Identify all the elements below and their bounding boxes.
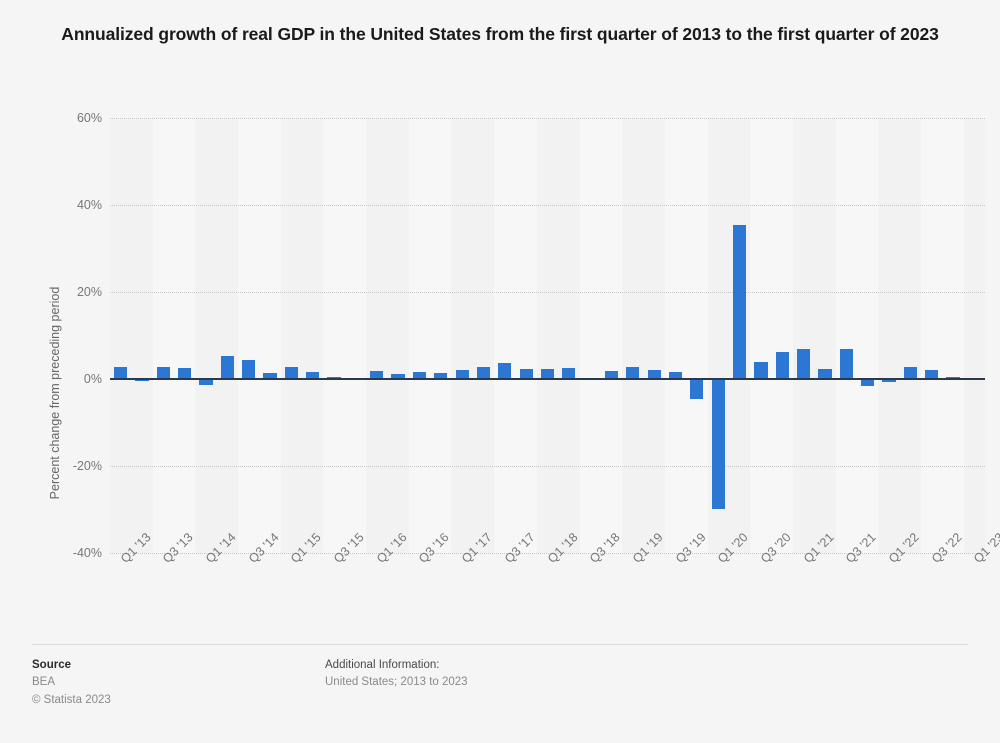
footer-divider [32,644,968,645]
x-axis: Q1 '13Q3 '13Q1 '14Q3 '14Q1 '15Q3 '15Q1 '… [110,556,985,616]
plot-band [366,118,409,553]
plot-band [195,118,238,553]
bar[interactable] [840,349,853,379]
y-axis-tick-label: 60% [38,111,102,125]
plot-band [622,118,665,553]
plot-band [281,118,324,553]
bar[interactable] [690,379,703,399]
source-block: Source BEA © Statista 2023 [32,657,111,709]
page-title: Annualized growth of real GDP in the Uni… [60,22,940,47]
source-name: BEA [32,674,111,691]
y-axis-tick-label: 40% [38,198,102,212]
plot-area [110,118,985,553]
plot-band [964,118,985,553]
bar[interactable] [861,379,874,386]
plot-band [451,118,494,553]
y-axis-tick-label: 20% [38,285,102,299]
copyright: © Statista 2023 [32,692,111,709]
bar[interactable] [242,360,255,379]
y-axis: Percent change from preceding period 60%… [30,118,102,553]
info-text: United States; 2013 to 2023 [325,674,468,691]
bar[interactable] [712,379,725,509]
gridline [110,466,985,467]
bar[interactable] [733,225,746,379]
gridline [110,205,985,206]
y-axis-tick-label: -20% [38,459,102,473]
bar[interactable] [754,362,767,379]
source-heading: Source [32,657,111,674]
info-heading: Additional Information: [325,657,468,674]
bar[interactable] [776,352,789,379]
plot-band [537,118,580,553]
y-axis-tick-label: 0% [38,372,102,386]
additional-information-block: Additional Information: United States; 2… [325,657,468,692]
gridline [110,292,985,293]
plot-band [878,118,921,553]
bar[interactable] [221,356,234,379]
gridline [110,118,985,119]
gdp-growth-chart: Annualized growth of real GDP in the Uni… [0,0,1000,743]
bar[interactable] [797,349,810,379]
zero-axis-line [110,378,985,380]
y-axis-tick-label: -40% [38,546,102,560]
y-axis-title: Percent change from preceding period [48,223,62,563]
plot-band [793,118,836,553]
bar[interactable] [498,363,511,379]
plot-band [110,118,153,553]
